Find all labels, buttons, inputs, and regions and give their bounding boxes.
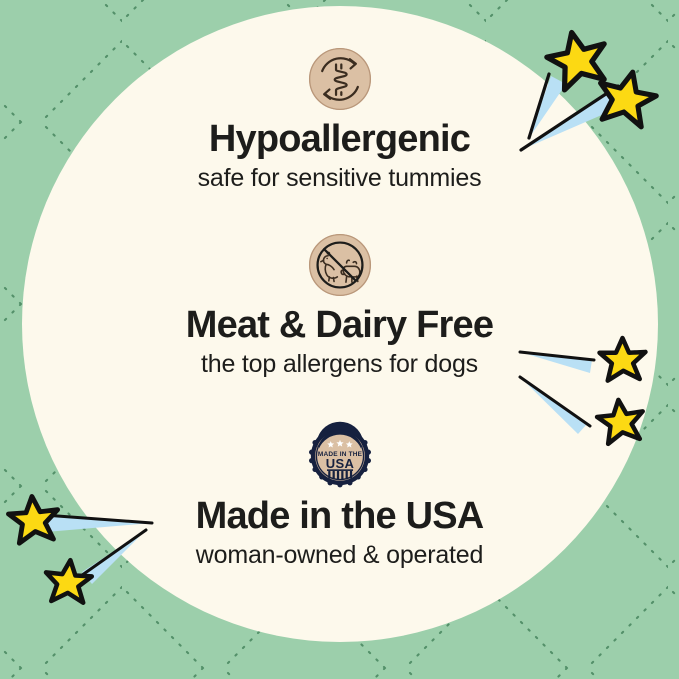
promo-graphic: Hypoallergenic safe for sensitive tummie… bbox=[0, 0, 679, 679]
feature-title: Hypoallergenic bbox=[209, 120, 470, 160]
feature-title: Made in the USA bbox=[196, 497, 484, 537]
feature-subtitle: safe for sensitive tummies bbox=[198, 163, 482, 194]
feature-subtitle: woman-owned & operated bbox=[196, 540, 483, 571]
feature-subtitle: the top allergens for dogs bbox=[201, 349, 478, 380]
gut-health-icon bbox=[307, 46, 373, 112]
feature-hypoallergenic: Hypoallergenic safe for sensitive tummie… bbox=[0, 46, 679, 194]
no-meat-no-dairy-icon bbox=[307, 232, 373, 298]
feature-meat-dairy-free: Meat & Dairy Free the top allergens for … bbox=[0, 232, 679, 380]
feature-made-in-usa: MADE IN THE USA Made in the USA woman-ow… bbox=[0, 425, 679, 571]
feature-title: Meat & Dairy Free bbox=[186, 306, 493, 346]
feature-list: Hypoallergenic safe for sensitive tummie… bbox=[0, 0, 679, 679]
badge-line2: USA bbox=[325, 456, 354, 471]
made-in-usa-badge-icon: MADE IN THE USA bbox=[309, 425, 371, 487]
